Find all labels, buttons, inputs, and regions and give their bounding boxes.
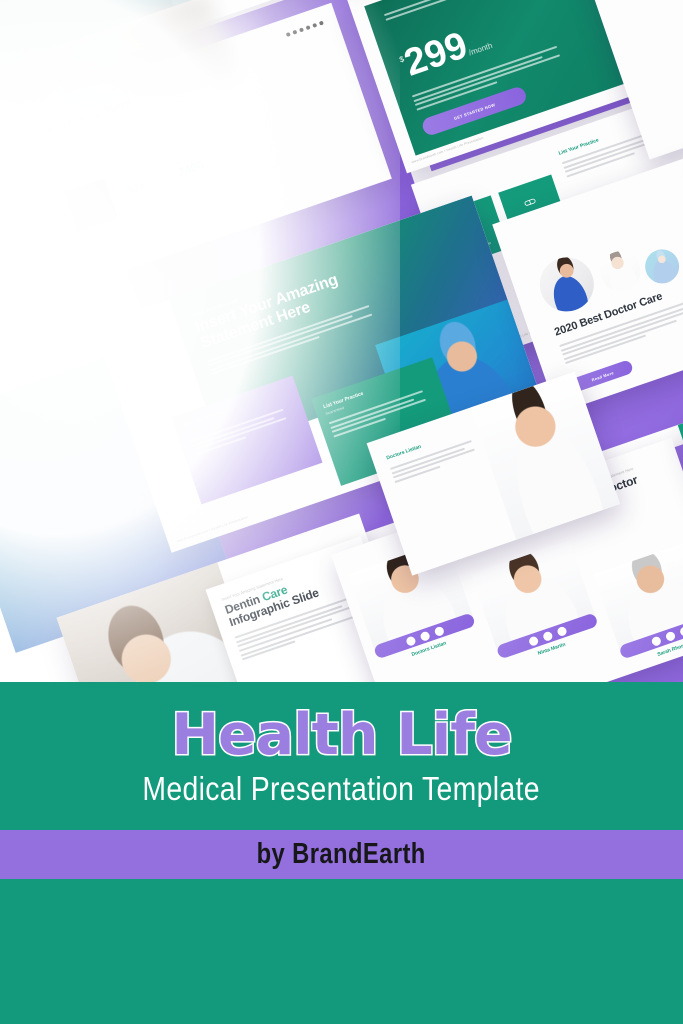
price-amount: 299 [400, 28, 471, 81]
byline-banner: by BrandEarth [0, 830, 683, 879]
twitter-icon[interactable] [664, 630, 675, 641]
instagram-icon[interactable] [678, 625, 683, 636]
title-banner: Health Life Medical Presentation Templat… [0, 682, 683, 830]
doctor-card[interactable]: Sarah Rhomdo [594, 541, 683, 669]
facebook-icon[interactable] [650, 635, 661, 646]
byline-text: by BrandEarth [257, 838, 426, 871]
bottom-green-band [0, 879, 683, 1024]
caduceus-icon [144, 426, 164, 446]
doctor-card[interactable]: Ninta Martin [471, 541, 602, 669]
instagram-icon[interactable] [433, 625, 444, 636]
twitter-icon[interactable] [419, 630, 430, 641]
nurse-photo [663, 0, 683, 130]
poster-root: Your Health Our Priority Read More www.b… [0, 0, 683, 1024]
slide-collage: Your Health Our Priority Read More www.b… [0, 0, 683, 684]
testimonial-avatar [641, 245, 683, 288]
twitter-icon[interactable] [541, 630, 552, 641]
facebook-icon[interactable] [527, 635, 538, 646]
slide-dots-indicator[interactable] [286, 21, 324, 37]
page-subtitle: Medical Presentation Template [143, 770, 541, 808]
blurred-decorative-image [0, 0, 290, 190]
facebook-icon[interactable] [405, 635, 416, 646]
instagram-icon[interactable] [556, 625, 567, 636]
testimonial-avatar [595, 246, 646, 297]
testimonial-avatar [532, 250, 601, 319]
price-period: /month [468, 41, 494, 57]
pricing-top-text [384, 0, 519, 23]
page-title: Health Life [171, 707, 511, 764]
